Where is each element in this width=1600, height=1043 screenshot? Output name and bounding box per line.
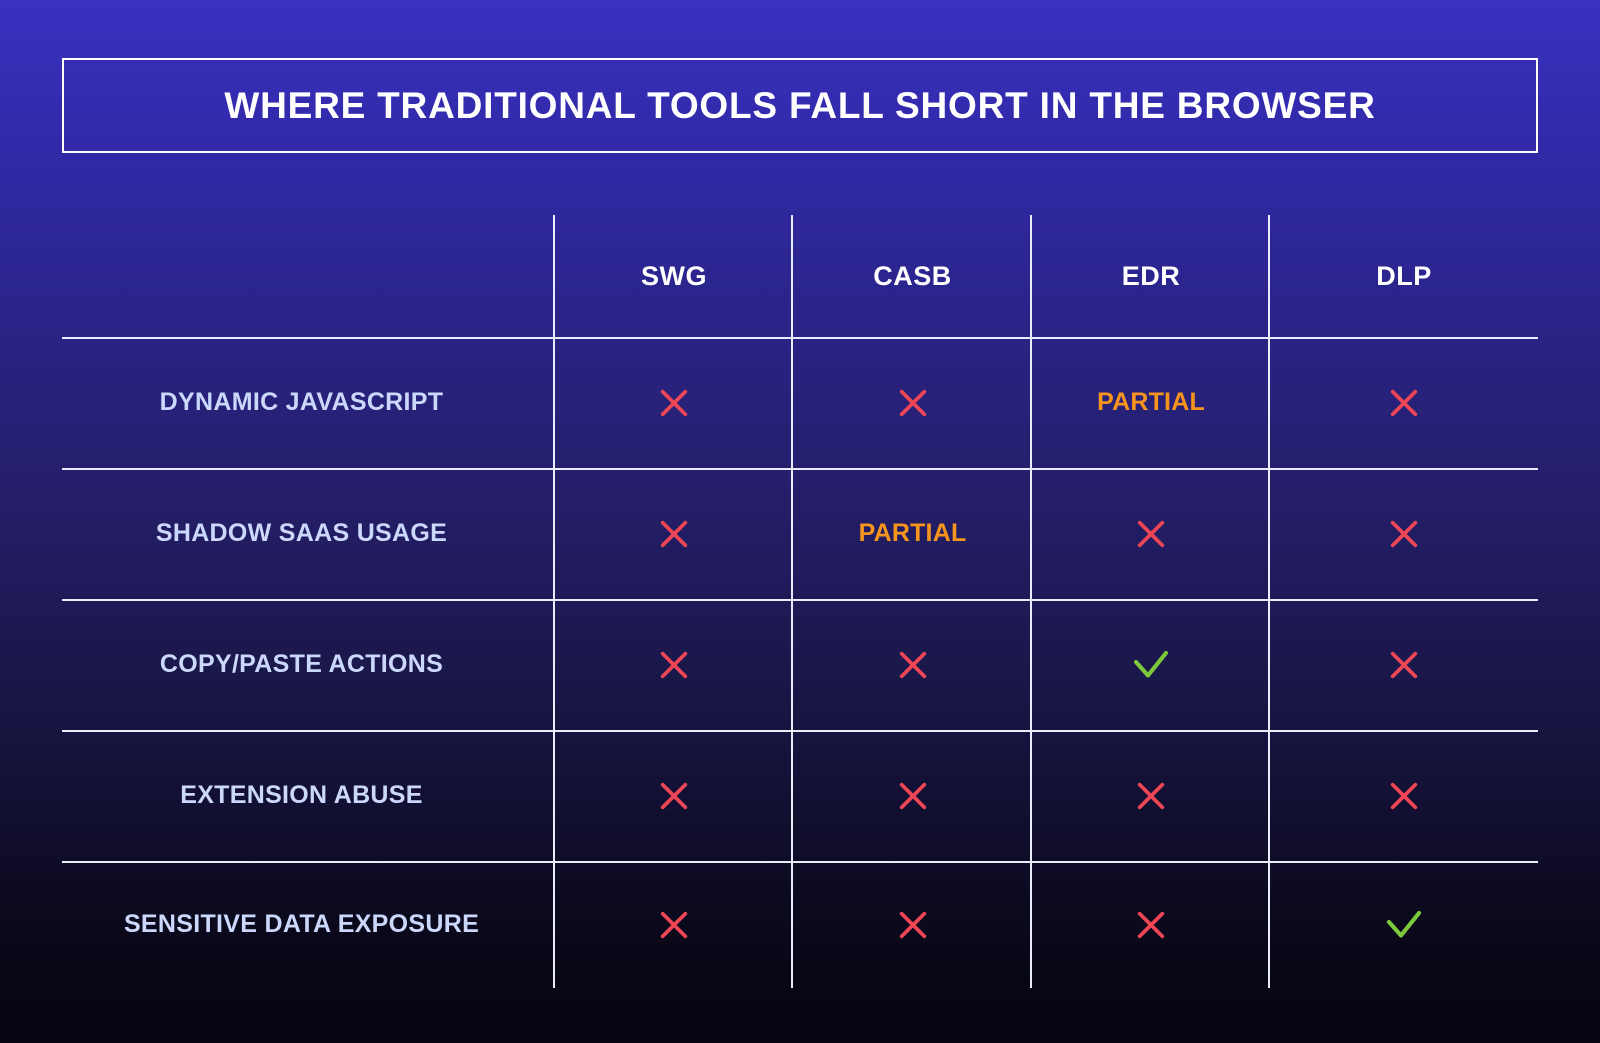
row-header-label: EXTENSION ABUSE [180, 781, 423, 810]
page-title: WHERE TRADITIONAL TOOLS FALL SHORT IN TH… [224, 85, 1375, 127]
row-header-label: COPY/PASTE ACTIONS [160, 650, 443, 679]
horizontal-rule-1 [62, 468, 1538, 470]
matrix-cell [555, 599, 793, 730]
matrix-cell [793, 337, 1032, 468]
vertical-rule-0 [553, 215, 555, 988]
cross-icon [657, 517, 691, 551]
cross-icon [896, 908, 930, 942]
horizontal-rule-2 [62, 599, 1538, 601]
matrix-cell [555, 730, 793, 861]
cross-icon [1387, 386, 1421, 420]
column-header-casb: CASB [793, 215, 1032, 337]
vertical-rule-2 [1030, 215, 1032, 988]
cross-icon [1387, 517, 1421, 551]
cross-icon [1134, 779, 1168, 813]
column-header-dlp: DLP [1270, 215, 1538, 337]
vertical-rule-3 [1268, 215, 1270, 988]
matrix-cell [1032, 730, 1270, 861]
cross-icon [896, 386, 930, 420]
check-icon [1130, 647, 1172, 683]
row-header: DYNAMIC JAVASCRIPT [62, 337, 555, 468]
matrix-cell [555, 468, 793, 599]
vertical-rule-1 [791, 215, 793, 988]
column-header-swg: SWG [555, 215, 793, 337]
row-header-label: SENSITIVE DATA EXPOSURE [124, 910, 479, 939]
matrix-cell [1032, 468, 1270, 599]
matrix-cell [793, 599, 1032, 730]
matrix-cell [1270, 599, 1538, 730]
matrix-cell [793, 861, 1032, 988]
cross-icon [896, 779, 930, 813]
matrix-cell [1270, 337, 1538, 468]
horizontal-rule-0 [62, 337, 1538, 339]
matrix-cell [1270, 468, 1538, 599]
cross-icon [657, 648, 691, 682]
column-header-label: DLP [1376, 261, 1432, 292]
matrix-cell [555, 337, 793, 468]
row-header: SENSITIVE DATA EXPOSURE [62, 861, 555, 988]
matrix-cell [555, 861, 793, 988]
column-header-label: CASB [873, 261, 952, 292]
row-header: EXTENSION ABUSE [62, 730, 555, 861]
cross-icon [896, 648, 930, 682]
check-icon [1383, 907, 1425, 943]
cross-icon [1387, 779, 1421, 813]
cross-icon [657, 779, 691, 813]
matrix-cell [1032, 599, 1270, 730]
column-header-edr: EDR [1032, 215, 1270, 337]
comparison-matrix: SWGCASBEDRDLPDYNAMIC JAVASCRIPTPARTIALSH… [62, 215, 1538, 988]
matrix-corner-cell [62, 215, 555, 337]
matrix-cell: PARTIAL [793, 468, 1032, 599]
row-header: COPY/PASTE ACTIONS [62, 599, 555, 730]
matrix-cell [1270, 861, 1538, 988]
column-header-label: SWG [641, 261, 707, 292]
horizontal-rule-4 [62, 861, 1538, 863]
matrix-cell: PARTIAL [1032, 337, 1270, 468]
cross-icon [1134, 517, 1168, 551]
cross-icon [1134, 908, 1168, 942]
matrix-cell [793, 730, 1032, 861]
matrix-cell [1270, 730, 1538, 861]
row-header-label: DYNAMIC JAVASCRIPT [160, 388, 444, 417]
cross-icon [657, 908, 691, 942]
partial-badge: PARTIAL [859, 519, 967, 548]
column-header-label: EDR [1122, 261, 1181, 292]
row-header: SHADOW SAAS USAGE [62, 468, 555, 599]
matrix-grid: SWGCASBEDRDLPDYNAMIC JAVASCRIPTPARTIALSH… [62, 215, 1538, 988]
row-header-label: SHADOW SAAS USAGE [156, 519, 447, 548]
horizontal-rule-3 [62, 730, 1538, 732]
matrix-cell [1032, 861, 1270, 988]
cross-icon [657, 386, 691, 420]
title-banner: WHERE TRADITIONAL TOOLS FALL SHORT IN TH… [62, 58, 1538, 153]
cross-icon [1387, 648, 1421, 682]
partial-badge: PARTIAL [1097, 388, 1205, 417]
